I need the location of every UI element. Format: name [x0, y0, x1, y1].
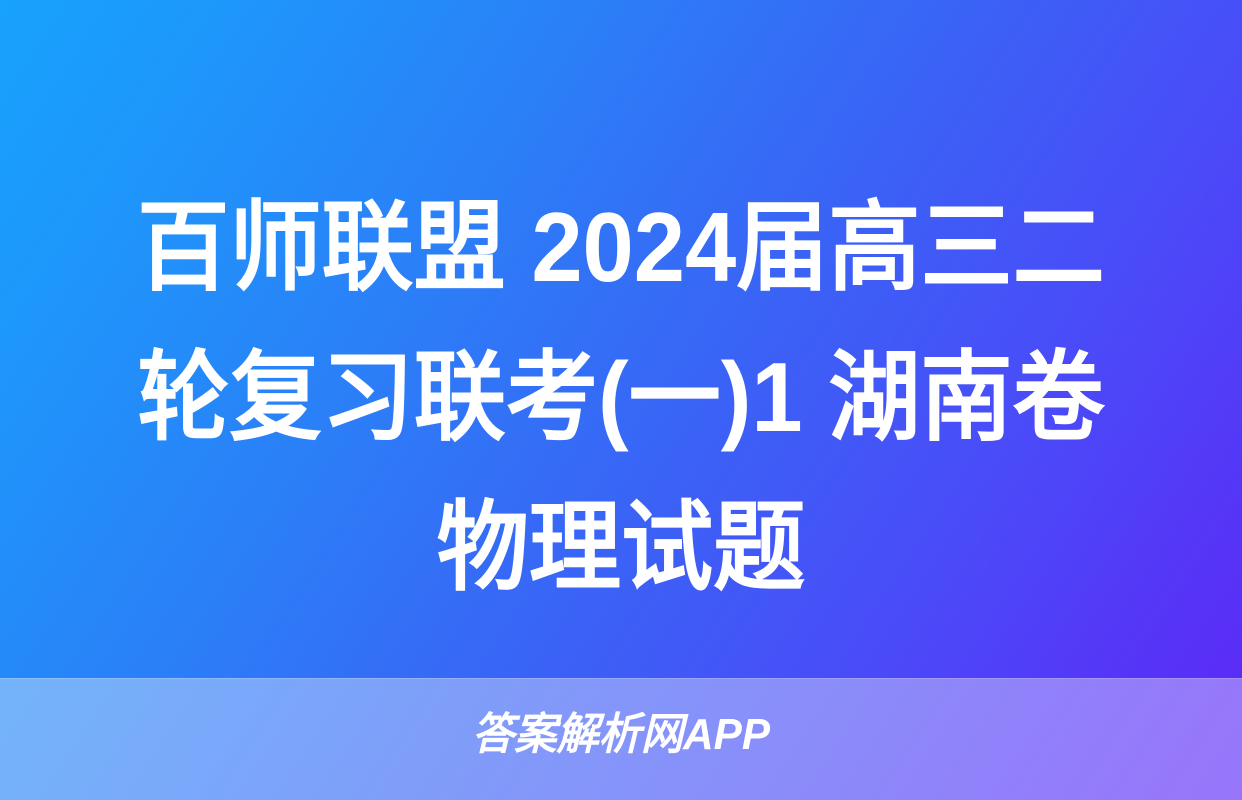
- watermark-brand: 答案解析网APP: [25, 706, 1217, 764]
- page-title: 百师联盟 2024届高三二 轮复习联考(一)1 湖南卷 物理试题: [0, 172, 1242, 622]
- title-line-3: 物理试题: [94, 472, 1149, 622]
- title-line-1: 百师联盟 2024届高三二: [94, 172, 1149, 322]
- title-card: 百师联盟 2024届高三二 轮复习联考(一)1 湖南卷 物理试题 答案解析网AP…: [0, 0, 1242, 800]
- divider: [0, 678, 1242, 679]
- title-line-2: 轮复习联考(一)1 湖南卷: [94, 322, 1149, 472]
